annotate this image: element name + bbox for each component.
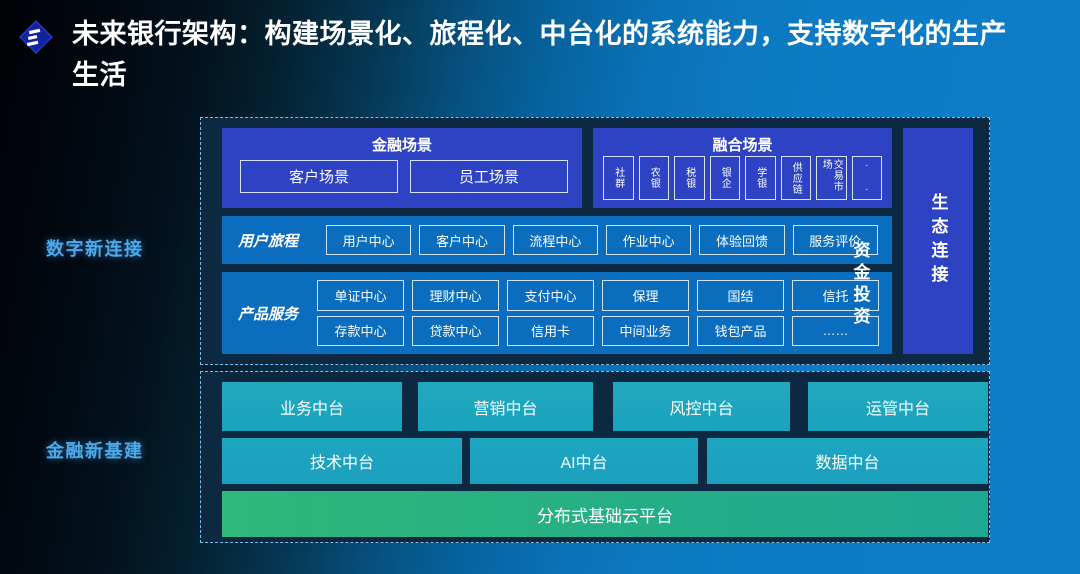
chip-credit-card[interactable]: 信用卡 [507, 316, 594, 347]
page-title: 未来银行架构：构建场景化、旅程化、中台化的系统能力，支持数字化的生产生活 [72, 14, 1012, 96]
platform-business-middle[interactable]: 业务中台 [222, 382, 402, 431]
user-journey-label: 用户旅程 [238, 216, 298, 264]
chip-bank-enterprise[interactable]: 银企 [710, 156, 741, 200]
chip-factoring[interactable]: 保理 [602, 280, 689, 311]
platform-operations-middle[interactable]: 运管中台 [808, 382, 988, 431]
fusion-scene-title: 融合场景 [593, 134, 892, 155]
eco-connection-label: 生态连接 [926, 193, 951, 289]
financial-scene-title: 金融场景 [222, 134, 582, 155]
slide-canvas: 未来银行架构：构建场景化、旅程化、中台化的系统能力，支持数字化的生产生活 数字新… [0, 0, 1080, 574]
section-label-digital-connection: 数字新连接 [46, 235, 144, 261]
chip-deposit-center[interactable]: 存款中心 [317, 316, 404, 347]
chip-experience-feedback[interactable]: 体验回馈 [699, 225, 784, 255]
chip-customer-scene[interactable]: 客户场景 [240, 160, 398, 193]
product-service-row-1: 单证中心 理财中心 支付中心 保理 国结 信托 [317, 280, 879, 311]
product-service-group: 产品服务 单证中心 理财中心 支付中心 保理 国结 信托 存款中心 贷款中心 信… [222, 272, 892, 354]
financial-scene-group: 金融场景 客户场景 员工场景 [222, 128, 582, 208]
chip-wallet-product[interactable]: 钱包产品 [697, 316, 784, 347]
chip-customer-center[interactable]: 客户中心 [419, 225, 504, 255]
chip-more-ellipsis[interactable]: · · [852, 156, 883, 200]
diamond-logo-icon [18, 19, 54, 55]
chip-staff-scene[interactable]: 员工场景 [410, 160, 568, 193]
fusion-scene-group: 融合场景 社群 农银 税银 银企 学银 供应链 交易市场 · · [593, 128, 892, 208]
platform-ai-middle[interactable]: AI中台 [470, 438, 698, 484]
eco-connection-column: 生态连接 [903, 128, 973, 354]
capital-investment-label: 资金投资 [848, 241, 873, 329]
user-journey-chip-row: 用户中心 客户中心 流程中心 作业中心 体验回馈 服务评价 [326, 225, 878, 255]
fusion-scene-chip-row: 社群 农银 税银 银企 学银 供应链 交易市场 · · [603, 156, 882, 200]
chip-wealth-center[interactable]: 理财中心 [412, 280, 499, 311]
chip-trading-market[interactable]: 交易市场 [816, 156, 847, 200]
cloud-foundation-bar[interactable]: 分布式基础云平台 [222, 491, 988, 537]
platform-marketing-middle[interactable]: 营销中台 [418, 382, 593, 431]
chip-supply-chain[interactable]: 供应链 [781, 156, 812, 200]
chip-tax-bank[interactable]: 税银 [674, 156, 705, 200]
chip-agri-bank[interactable]: 农银 [639, 156, 670, 200]
capital-investment-column: 资金投资 [830, 216, 890, 354]
chip-community[interactable]: 社群 [603, 156, 634, 200]
chip-international-settlement[interactable]: 国结 [697, 280, 784, 311]
product-service-label: 产品服务 [238, 272, 298, 354]
section-label-financial-infrastructure: 金融新基建 [46, 437, 144, 463]
chip-document-center[interactable]: 单证中心 [317, 280, 404, 311]
chip-intermediary-business[interactable]: 中间业务 [602, 316, 689, 347]
product-service-row-2: 存款中心 贷款中心 信用卡 中间业务 钱包产品 …… [317, 316, 879, 347]
chip-school-bank[interactable]: 学银 [745, 156, 776, 200]
chip-operation-center[interactable]: 作业中心 [606, 225, 691, 255]
product-service-chip-rows: 单证中心 理财中心 支付中心 保理 国结 信托 存款中心 贷款中心 信用卡 中间… [317, 280, 879, 346]
chip-process-center[interactable]: 流程中心 [513, 225, 598, 255]
user-journey-group: 用户旅程 用户中心 客户中心 流程中心 作业中心 体验回馈 服务评价 [222, 216, 892, 264]
chip-user-center[interactable]: 用户中心 [326, 225, 411, 255]
slide-header: 未来银行架构：构建场景化、旅程化、中台化的系统能力，支持数字化的生产生活 [0, 0, 1080, 108]
platform-technology-middle[interactable]: 技术中台 [222, 438, 462, 484]
chip-loan-center[interactable]: 贷款中心 [412, 316, 499, 347]
platform-data-middle[interactable]: 数据中台 [707, 438, 988, 484]
platform-risk-middle[interactable]: 风控中台 [613, 382, 790, 431]
chip-payment-center[interactable]: 支付中心 [507, 280, 594, 311]
